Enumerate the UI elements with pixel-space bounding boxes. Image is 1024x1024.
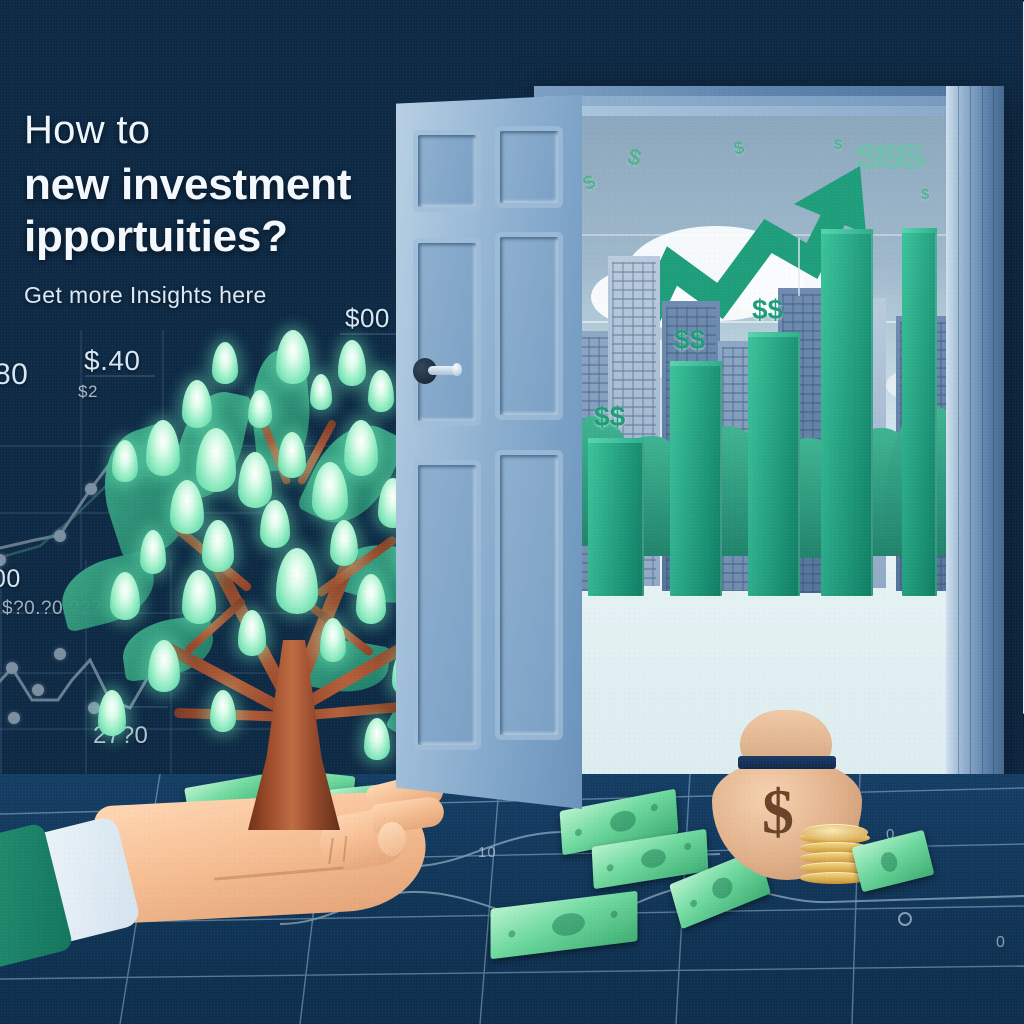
headline-subtitle: Get more Insights here — [24, 282, 267, 309]
headline-line-2: new investment — [24, 160, 351, 210]
door-handle-tip — [452, 363, 462, 376]
door-panel-bottom-left — [418, 465, 476, 745]
door-panel-top-right — [500, 131, 558, 203]
door-panel-mid-right — [500, 237, 558, 415]
open-door[interactable] — [396, 95, 582, 809]
door-panel-bottom-right — [500, 455, 558, 735]
headline-line-1: How to — [24, 108, 150, 153]
door-panel-top-left — [418, 135, 476, 207]
headline-line-3: ipportuities? — [24, 212, 288, 262]
door-panel-mid-left — [418, 243, 476, 421]
illustration-canvas: 80 $.40 $2 $00 00 $?0.?0 ?2? 27?0 How to… — [0, 0, 1024, 1024]
